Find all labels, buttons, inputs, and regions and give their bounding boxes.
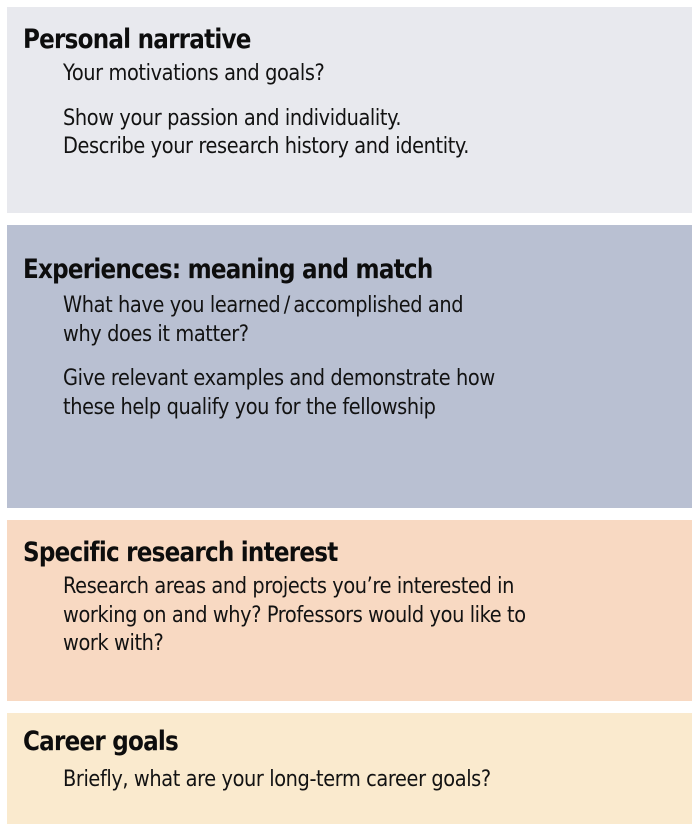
section-paragraph: Briefly, what are your long-term career …: [63, 766, 670, 795]
section-heading: Personal narrative: [23, 25, 580, 54]
section-body: Briefly, what are your long-term career …: [63, 766, 670, 795]
section-heading: Career goals: [23, 727, 580, 756]
section-personal-narrative: Personal narrative Your motivations and …: [7, 7, 692, 213]
section-paragraph: Show your passion and individuality.Desc…: [63, 105, 670, 162]
section-experiences: Experiences: meaning and match What have…: [7, 225, 692, 508]
section-career-goals: Career goals Briefly, what are your long…: [7, 713, 692, 824]
section-paragraph: Research areas and projects you’re inter…: [63, 573, 670, 659]
section-paragraph: Give relevant examples and demonstrate h…: [63, 365, 670, 422]
section-body: What have you learned / accomplished and…: [63, 292, 670, 422]
fellowship-statement-diagram: Personal narrative Your motivations and …: [0, 0, 700, 830]
section-body: Your motivations and goals? Show your pa…: [63, 60, 670, 162]
section-paragraph: Your motivations and goals?: [63, 60, 670, 89]
section-heading: Experiences: meaning and match: [23, 255, 580, 284]
section-specific-research-interest: Specific research interest Research area…: [7, 520, 692, 701]
section-paragraph: What have you learned / accomplished and…: [63, 292, 670, 349]
section-body: Research areas and projects you’re inter…: [63, 573, 670, 659]
section-heading: Specific research interest: [23, 538, 580, 567]
